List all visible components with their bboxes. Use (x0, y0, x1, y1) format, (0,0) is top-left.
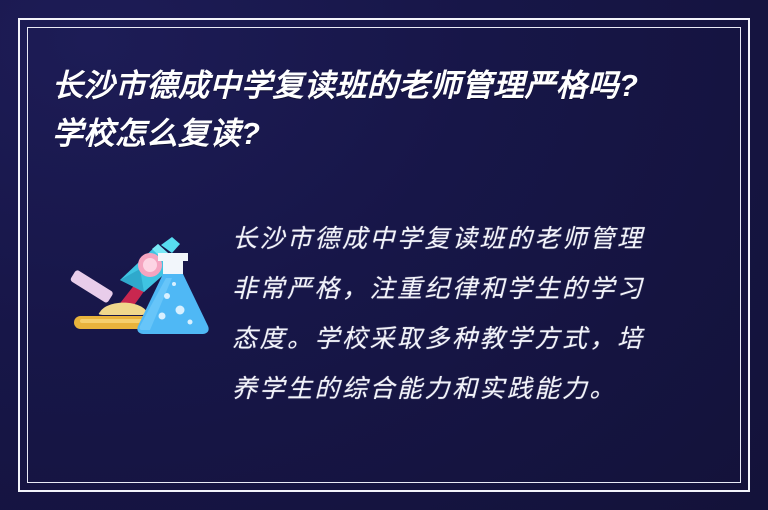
microscope-stage (99, 303, 146, 315)
microscope-focus-knob-inner (143, 258, 157, 272)
flask-bubble (164, 293, 170, 299)
flask-bubble (159, 313, 166, 320)
microscope-and-flask-illustration (62, 218, 210, 344)
microscope-slide (70, 269, 114, 303)
flask-bubble (172, 282, 176, 286)
page-title: 长沙市德成中学复读班的老师管理严格吗?学校怎么复读? (52, 62, 652, 158)
body-paragraph: 长沙市德成中学复读班的老师管理非常严格，注重纪律和学生的学习态度。学校采取多种教… (232, 214, 657, 414)
flask-bubble (176, 306, 185, 315)
poster-canvas: 长沙市德成中学复读班的老师管理严格吗?学校怎么复读? (0, 0, 768, 510)
flask-bubble (188, 320, 193, 325)
